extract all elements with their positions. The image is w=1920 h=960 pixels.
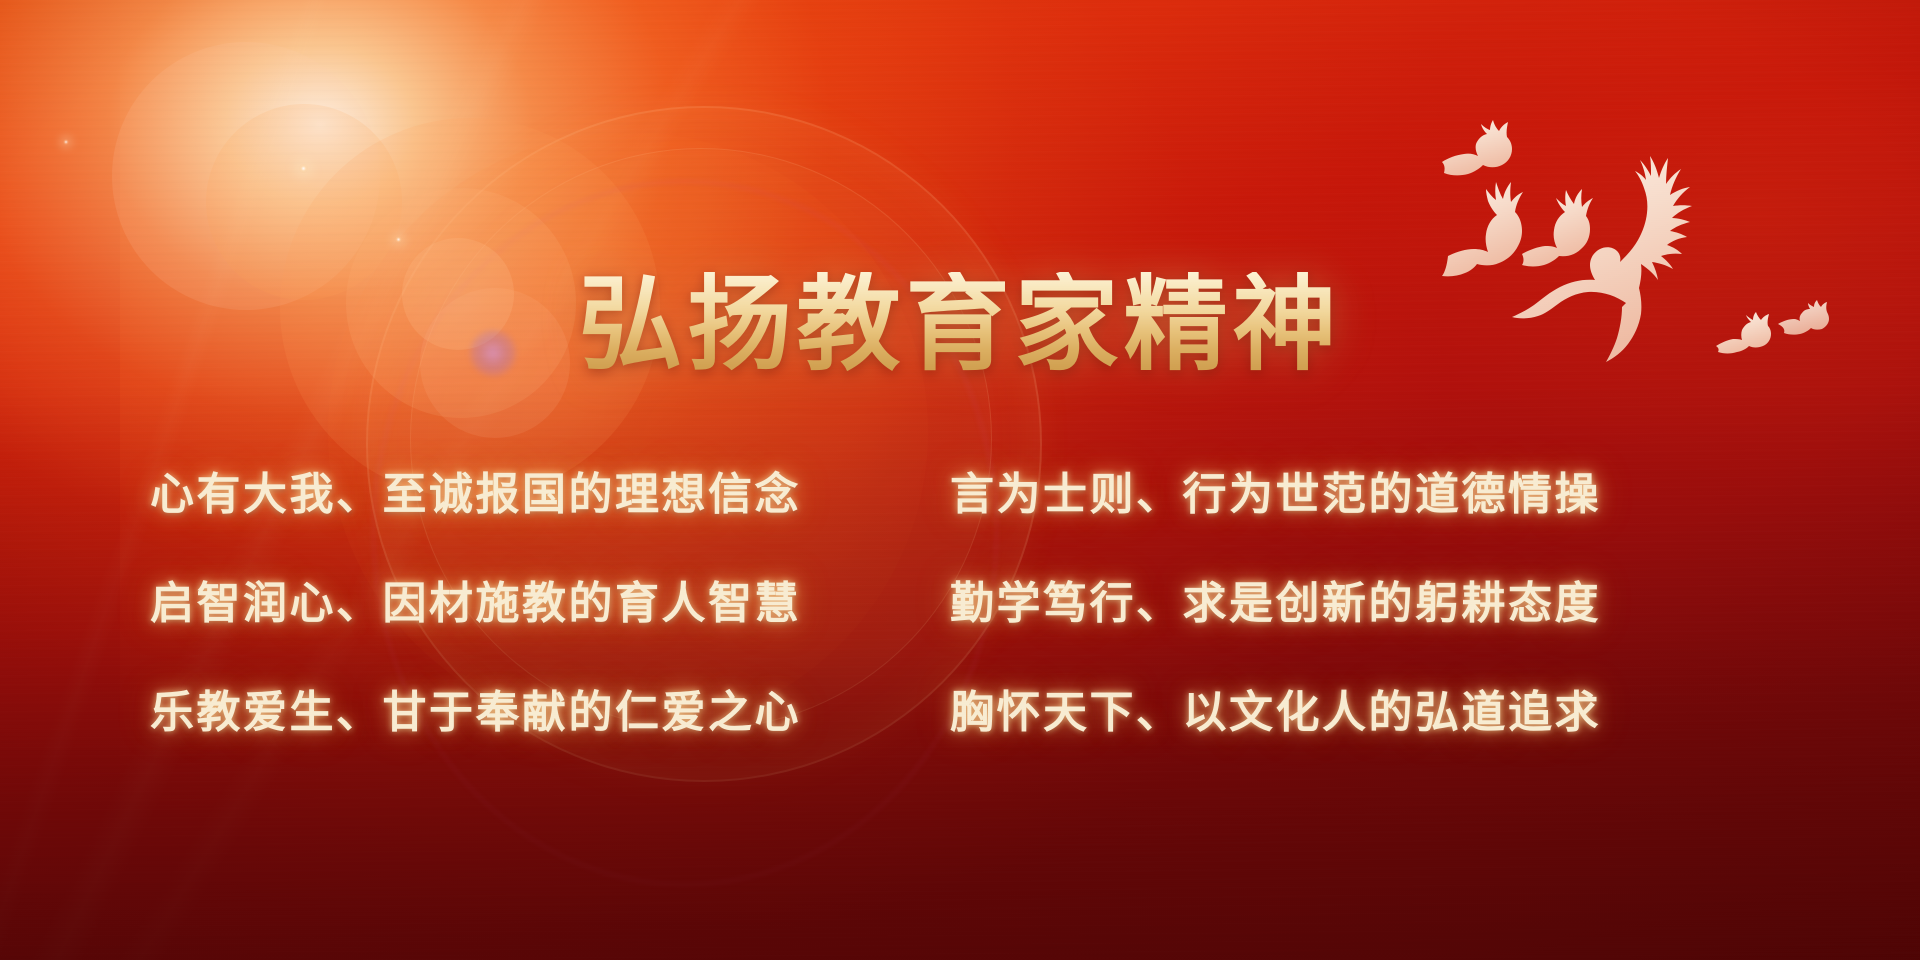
- banner-title: 弘扬教育家精神: [0, 272, 1920, 376]
- slogan-line-2: 言为士则、行为世范的道德情操: [950, 473, 1601, 517]
- slogan-line-6: 胸怀天下、以文化人的弘道追求: [950, 691, 1601, 735]
- slogan-line-4: 勤学笃行、求是创新的躬耕态度: [950, 582, 1601, 626]
- promo-banner: 弘扬教育家精神 心有大我、至诚报国的理想信念 言为士则、行为世范的道德情操 启智…: [0, 0, 1920, 960]
- slogan-grid: 心有大我、至诚报国的理想信念 言为士则、行为世范的道德情操 启智润心、因材施教的…: [150, 440, 1770, 767]
- slogan-line-1: 心有大我、至诚报国的理想信念: [150, 473, 801, 517]
- slogan-line-5: 乐教爱生、甘于奉献的仁爱之心: [150, 691, 801, 735]
- slogan-line-3: 启智润心、因材施教的育人智慧: [150, 582, 801, 626]
